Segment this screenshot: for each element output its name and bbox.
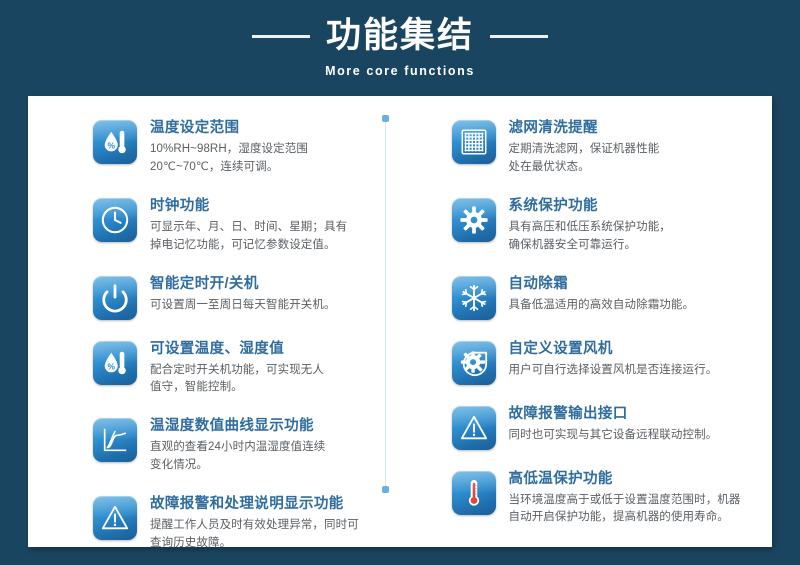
features-card: % 温度设定范围10%RH~98RH，湿度设定范围20℃~70℃，连续可调。 时… (28, 96, 772, 547)
feature-text: 自动除霜具备低温适用的高效自动除霜功能。 (509, 274, 759, 315)
feature-text: 智能定时开/关机可设置周一至周日每天智能开关机。 (150, 274, 400, 315)
page-subtitle: More core functions (325, 64, 475, 78)
page-header: 功能集结 More core functions (0, 0, 800, 96)
clock-icon (93, 198, 137, 242)
feature-title: 系统保护功能 (509, 197, 759, 215)
feature-description: 10%RH~98RH，湿度设定范围20℃~70℃，连续可调。 (150, 141, 400, 177)
snowflake-icon (452, 276, 496, 320)
feature-item[interactable]: % 温度设定范围10%RH~98RH，湿度设定范围20℃~70℃，连续可调。 (93, 118, 400, 177)
feature-text: 自定义设置风机用户可自行选择设置风机是否连接运行。 (509, 339, 759, 380)
title-row: 功能集结 (252, 18, 548, 55)
filter-mesh-icon (452, 120, 496, 164)
feature-item[interactable]: 智能定时开/关机可设置周一至周日每天智能开关机。 (93, 274, 400, 320)
feature-text: 温湿度数值曲线显示功能直观的查看24小时内温湿度值连续变化情况。 (150, 416, 400, 475)
gear-icon (452, 198, 496, 242)
feature-description: 用户可自行选择设置风机是否连接运行。 (509, 362, 759, 380)
feature-item[interactable]: 温湿度数值曲线显示功能直观的查看24小时内温湿度值连续变化情况。 (93, 416, 400, 475)
power-icon (93, 276, 137, 320)
feature-item[interactable]: 故障报警和处理说明显示功能提醒工作人员及时有效处理异常，同时可查询历史故障。 (93, 494, 400, 553)
feature-column-right: 滤网清洗提醒定期清洗滤网，保证机器性能处在最优状态。 系统保护功能具有高压和低压… (408, 96, 773, 547)
feature-description: 当环境温度高于或低于设置温度范围时，机器自动开启保护功能，提高机器的使用寿命。 (509, 492, 759, 528)
feature-title: 高低温保护功能 (509, 470, 759, 488)
feature-title: 故障报警输出接口 (509, 405, 759, 423)
humidity-thermometer-icon: % (93, 120, 137, 164)
feature-description: 可设置周一至周日每天智能开关机。 (150, 297, 400, 315)
feature-text: 故障报警和处理说明显示功能提醒工作人员及时有效处理异常，同时可查询历史故障。 (150, 494, 400, 553)
humidity-thermometer-icon: % (93, 341, 137, 385)
title-rule-left (252, 35, 310, 38)
feature-item[interactable]: % 可设置温度、湿度值配合定时开关机功能，可实现无人值守，智能控制。 (93, 339, 400, 398)
feature-text: 时钟功能可显示年、月、日、时间、星期；具有掉电记忆功能，可记忆参数设定值。 (150, 196, 400, 255)
feature-text: 系统保护功能具有高压和低压系统保护功能，确保机器安全可靠运行。 (509, 196, 759, 255)
feature-description: 同时也可实现与其它设备远程联动控制。 (509, 427, 759, 445)
page-title: 功能集结 (326, 18, 474, 55)
feature-text: 可设置温度、湿度值配合定时开关机功能，可实现无人值守，智能控制。 (150, 339, 400, 398)
feature-text: 高低温保护功能当环境温度高于或低于设置温度范围时，机器自动开启保护功能，提高机器… (509, 469, 759, 528)
feature-description: 直观的查看24小时内温湿度值连续变化情况。 (150, 439, 400, 475)
feature-description: 提醒工作人员及时有效处理异常，同时可查询历史故障。 (150, 517, 400, 553)
feature-title: 自动除霜 (509, 275, 759, 293)
feature-description: 具有高压和低压系统保护功能，确保机器安全可靠运行。 (509, 219, 759, 255)
feature-title: 温湿度数值曲线显示功能 (150, 417, 400, 435)
feature-text: 温度设定范围10%RH~98RH，湿度设定范围20℃~70℃，连续可调。 (150, 118, 400, 177)
feature-column-left: % 温度设定范围10%RH~98RH，湿度设定范围20℃~70℃，连续可调。 时… (28, 96, 408, 547)
warning-triangle-icon (452, 406, 496, 450)
feature-item[interactable]: 自动除霜具备低温适用的高效自动除霜功能。 (452, 274, 759, 320)
feature-title: 故障报警和处理说明显示功能 (150, 495, 400, 513)
feature-description: 定期清洗滤网，保证机器性能处在最优状态。 (509, 141, 759, 177)
feature-columns: % 温度设定范围10%RH~98RH，湿度设定范围20℃~70℃，连续可调。 时… (28, 96, 772, 547)
feature-text: 故障报警输出接口同时也可实现与其它设备远程联动控制。 (509, 404, 759, 445)
line-chart-icon (93, 418, 137, 462)
feature-item[interactable]: 自定义设置风机用户可自行选择设置风机是否连接运行。 (452, 339, 759, 385)
feature-title: 自定义设置风机 (509, 340, 759, 358)
warning-triangle-icon (93, 496, 137, 540)
feature-item[interactable]: 故障报警输出接口同时也可实现与其它设备远程联动控制。 (452, 404, 759, 450)
feature-item[interactable]: 时钟功能可显示年、月、日、时间、星期；具有掉电记忆功能，可记忆参数设定值。 (93, 196, 400, 255)
blower-fan-icon (452, 341, 496, 385)
thermometer-icon (452, 471, 496, 515)
feature-item[interactable]: 系统保护功能具有高压和低压系统保护功能，确保机器安全可靠运行。 (452, 196, 759, 255)
feature-title: 温度设定范围 (150, 119, 400, 137)
feature-description: 配合定时开关机功能，可实现无人值守，智能控制。 (150, 362, 400, 398)
svg-text:%: % (108, 141, 116, 151)
feature-text: 滤网清洗提醒定期清洗滤网，保证机器性能处在最优状态。 (509, 118, 759, 177)
feature-title: 时钟功能 (150, 197, 400, 215)
feature-title: 智能定时开/关机 (150, 275, 400, 293)
feature-title: 可设置温度、湿度值 (150, 340, 400, 358)
feature-description: 可显示年、月、日、时间、星期；具有掉电记忆功能，可记忆参数设定值。 (150, 219, 400, 255)
feature-title: 滤网清洗提醒 (509, 119, 759, 137)
title-rule-right (490, 35, 548, 38)
feature-item[interactable]: 高低温保护功能当环境温度高于或低于设置温度范围时，机器自动开启保护功能，提高机器… (452, 469, 759, 528)
feature-description: 具备低温适用的高效自动除霜功能。 (509, 297, 759, 315)
feature-item[interactable]: 滤网清洗提醒定期清洗滤网，保证机器性能处在最优状态。 (452, 118, 759, 177)
svg-text:%: % (108, 361, 116, 371)
